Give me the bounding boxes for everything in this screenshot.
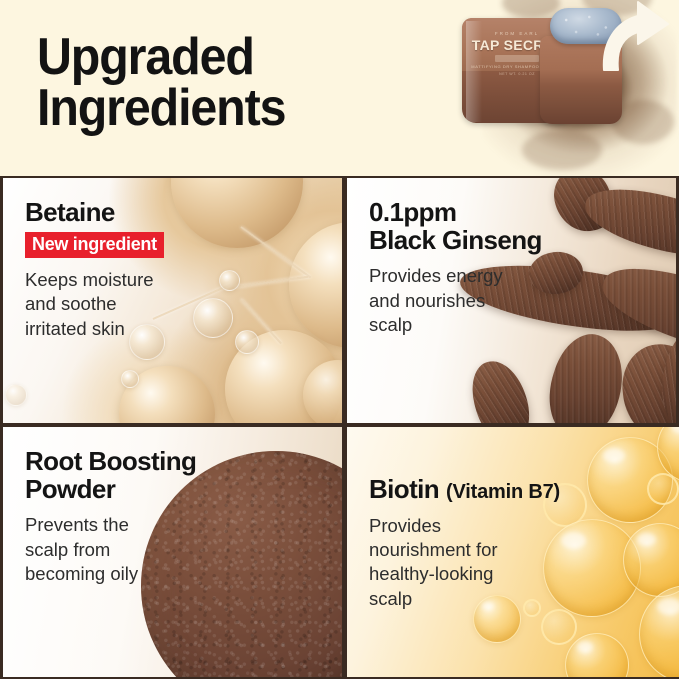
panel-black-ginseng[interactable]: 0.1ppm Black Ginseng Provides energy and… <box>347 178 676 423</box>
ingredient-description: Keeps moisture and soothe irritated skin <box>25 268 164 341</box>
panel-black-ginseng-text: 0.1ppm Black Ginseng Provides energy and… <box>369 198 542 337</box>
new-ingredient-badge: New ingredient <box>25 232 164 258</box>
product-variant-chip <box>495 55 539 62</box>
ingredient-title-suffix: (Vitamin B7) <box>446 481 560 503</box>
curved-up-arrow-icon <box>594 0 674 76</box>
ingredient-description: Provides energy and nourishes scalp <box>369 264 542 337</box>
ingredient-title-main: Biotin <box>369 474 439 504</box>
panel-biotin-text: Biotin(Vitamin B7) Provides nourishment … <box>369 447 560 611</box>
panel-biotin[interactable]: Biotin(Vitamin B7) Provides nourishment … <box>347 427 679 677</box>
ingredient-title: Biotin(Vitamin B7) <box>369 447 560 504</box>
panel-root-boosting-powder[interactable]: Root Boosting Powder Prevents the scalp … <box>3 427 342 677</box>
header-banner: Upgraded Ingredients FROM EARL TAP SECRE… <box>0 0 679 176</box>
ingredient-description: Provides nourishment for healthy-looking… <box>369 514 560 612</box>
ingredient-title: Betaine <box>25 198 164 226</box>
infographic-page: Upgraded Ingredients FROM EARL TAP SECRE… <box>0 0 679 679</box>
panel-betaine[interactable]: Betaine New ingredient Keeps moisture an… <box>3 178 342 423</box>
ingredient-title: Root Boosting Powder <box>25 447 196 503</box>
ingredient-title: 0.1ppm Black Ginseng <box>369 198 542 254</box>
ingredient-grid: Betaine New ingredient Keeps moisture an… <box>0 176 679 679</box>
ingredient-description: Prevents the scalp from becoming oily <box>25 513 196 586</box>
page-title: Upgraded Ingredients <box>37 32 285 134</box>
product-hero: FROM EARL TAP SECRET MATTIFYING DRY SHAM… <box>462 0 679 176</box>
panel-root-boosting-powder-text: Root Boosting Powder Prevents the scalp … <box>25 447 196 586</box>
panel-betaine-text: Betaine New ingredient Keeps moisture an… <box>25 198 164 341</box>
